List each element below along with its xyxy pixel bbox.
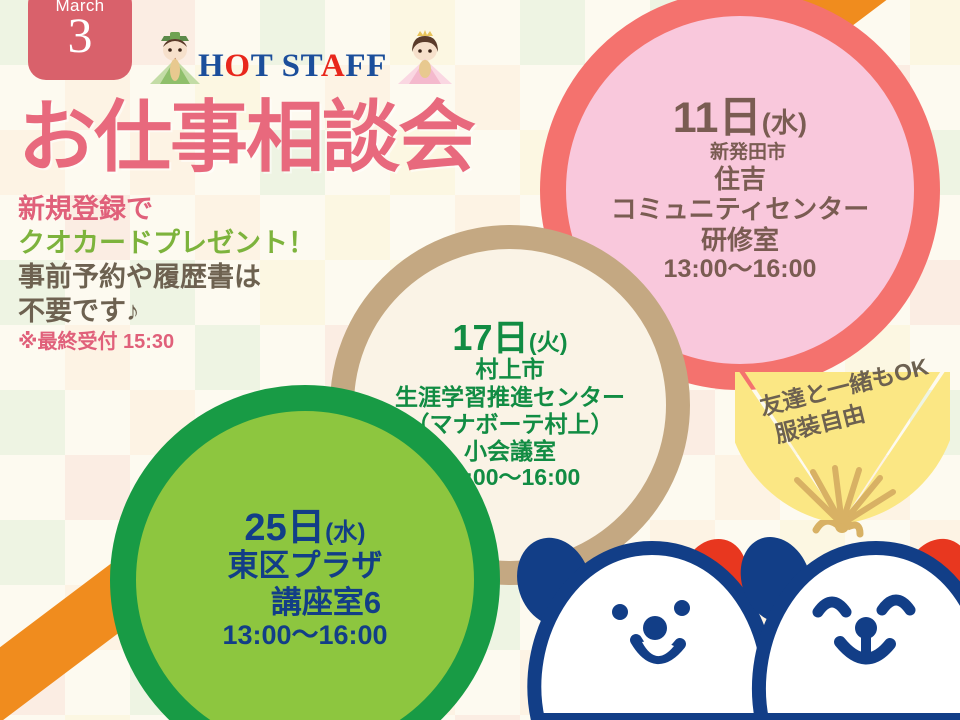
- event-17-venue-line-1: 村上市: [370, 356, 651, 383]
- event-11-city: 新発田市: [599, 143, 896, 164]
- dog-mascots-illustration: [500, 520, 960, 720]
- logo-letter: A: [321, 48, 346, 84]
- hot-staff-logo: HOT STAFF: [198, 48, 387, 85]
- event-25-time: 13:00〜16:00: [153, 621, 457, 651]
- event-11-venue-line-2: コミュニティセンター: [583, 194, 896, 225]
- event-25-venue-line-1: 東区プラザ: [153, 548, 457, 585]
- event-25-venue-line-2: 講座室6: [195, 585, 457, 622]
- page-title: お仕事相談会: [18, 98, 474, 176]
- info-line-4: 不要です♪: [18, 294, 315, 328]
- event-11-venue-line-1: 住吉: [583, 164, 896, 195]
- march-date-badge: March 3: [28, 0, 132, 80]
- poster-canvas: 11日(水) 新発田市 住吉 コミュニティセンター 研修室 13:00〜16:0…: [0, 0, 960, 720]
- event-25-day-of-week: (水): [325, 519, 365, 546]
- info-line-5-last-reception: ※最終受付 15:30: [18, 330, 315, 355]
- event-11-venue: 住吉 コミュニティセンター 研修室: [583, 164, 896, 256]
- logo-letter: FF: [345, 48, 387, 84]
- info-line-2: クオカードプレゼント！: [18, 226, 315, 260]
- event-11-venue-line-3: 研修室: [583, 225, 896, 256]
- hina-doll-female-icon: [390, 28, 460, 90]
- mascot-dog-left: [506, 528, 769, 720]
- event-11-day-number: 11日: [673, 94, 762, 142]
- event-25-day-number: 25日: [244, 507, 325, 549]
- event-17-date: 17日(火): [370, 320, 651, 357]
- info-text-block: 新規登録で クオカードプレゼント！ 事前予約や履歴書は 不要です♪ ※最終受付 …: [18, 192, 315, 355]
- logo-letter: H: [198, 48, 224, 84]
- event-25-date: 25日(水): [153, 509, 457, 548]
- event-25-venue: 東区プラザ 講座室6: [153, 548, 457, 621]
- info-line-1: 新規登録で: [18, 192, 315, 226]
- logo-letter: O: [224, 48, 250, 84]
- event-17-day-of-week: (火): [529, 329, 568, 355]
- info-line-3: 事前予約や履歴書は: [18, 260, 315, 294]
- event-17-day-number: 17日: [452, 317, 529, 358]
- event-11-date: 11日(水): [583, 97, 896, 141]
- march-day-number: 3: [68, 12, 93, 60]
- mascot-dog-right: [729, 520, 960, 720]
- event-11-day-of-week: (水): [762, 108, 807, 138]
- logo-letter: T ST: [251, 48, 321, 84]
- event-17-venue-line-2: 生涯学習推進センター: [370, 384, 651, 411]
